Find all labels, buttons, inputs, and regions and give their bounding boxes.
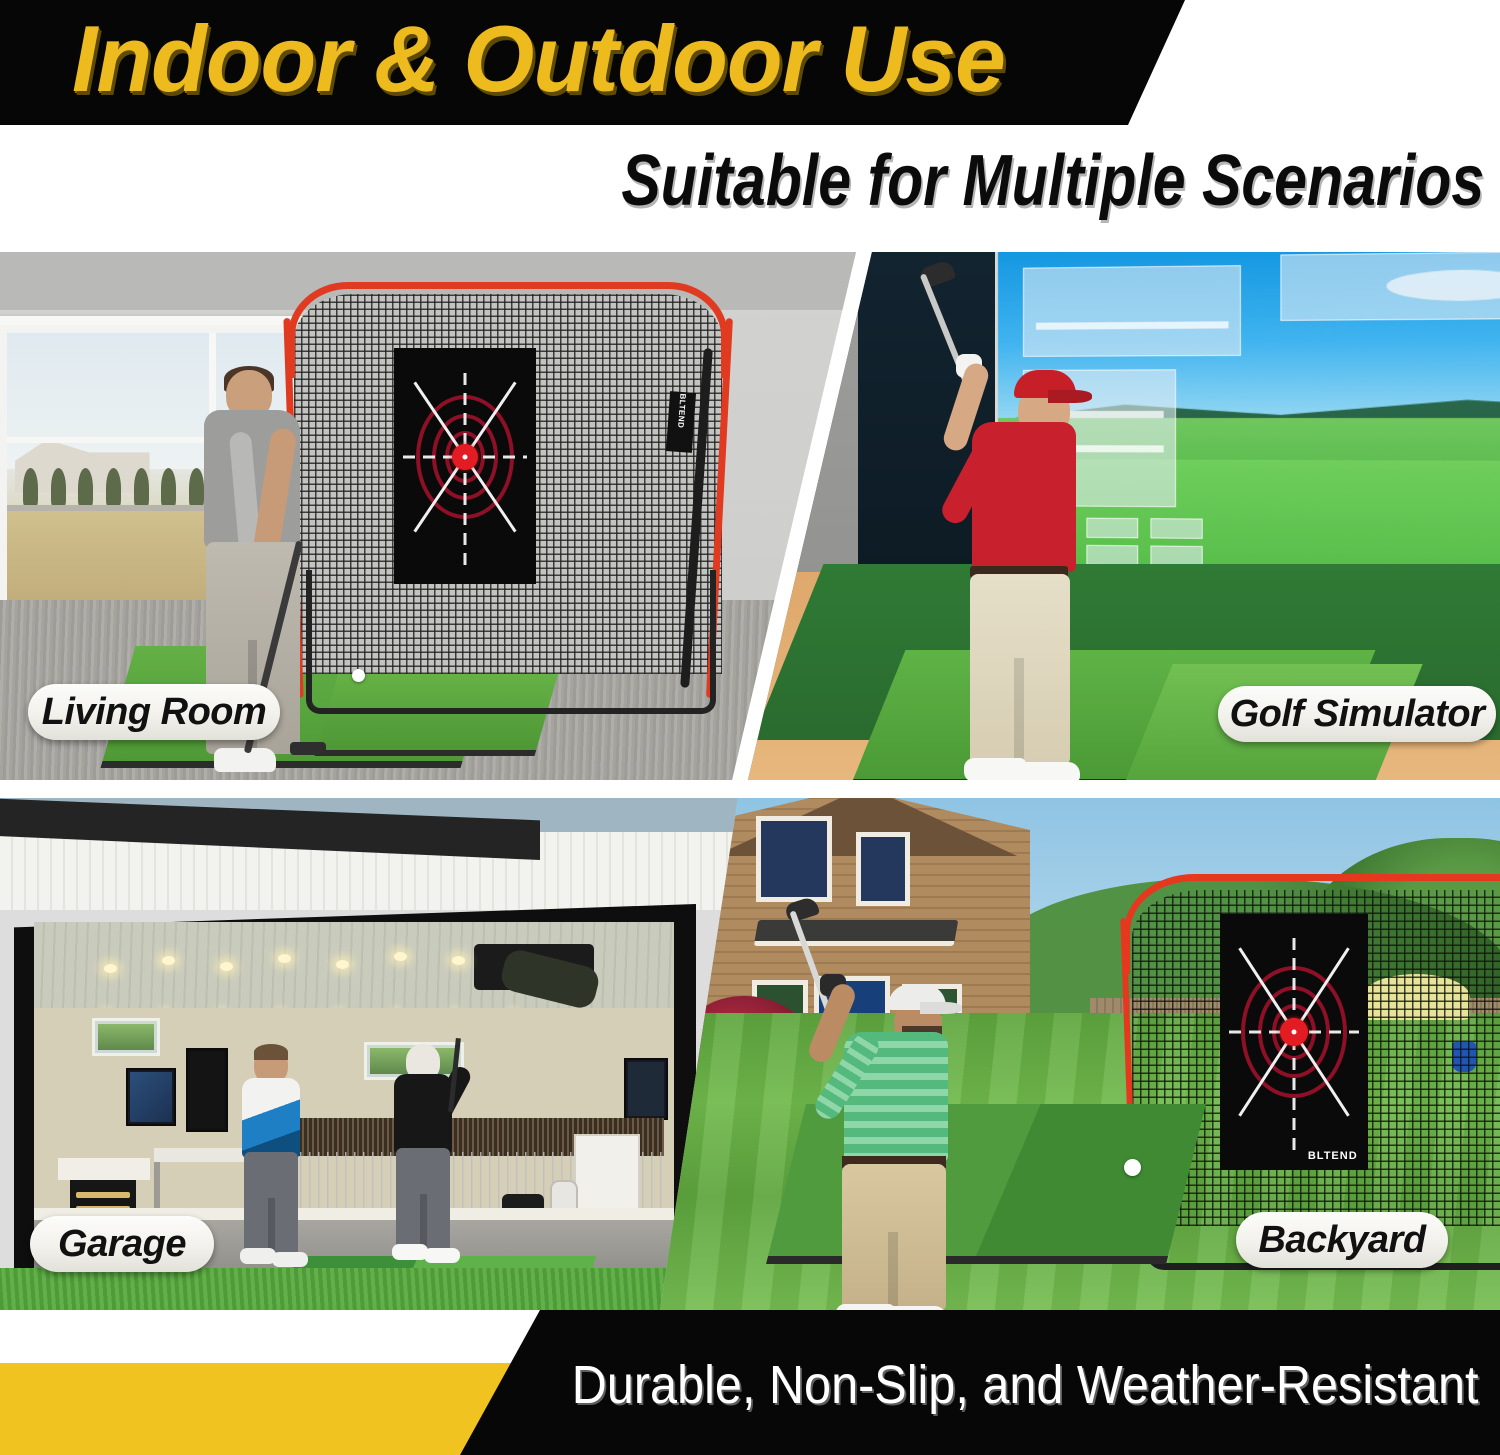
header-banner-area: Indoor & Outdoor Use Suitable for Multip… <box>0 0 1500 250</box>
golfer-figure <box>936 318 1116 780</box>
target-brand-label: BLTEND <box>1308 1150 1358 1162</box>
panel-golf-simulator[interactable]: JoyGo <box>748 252 1500 780</box>
label-text: Golf Simulator <box>1230 693 1485 736</box>
label-golf-simulator: Golf Simulator <box>1218 686 1496 742</box>
footer-accent-bar <box>0 1363 540 1455</box>
page-title: Indoor & Outdoor Use <box>72 6 1005 111</box>
golf-hitting-net: BLTEND <box>282 270 734 718</box>
net-brand-label: BLTEND <box>676 393 688 432</box>
label-text: Backyard <box>1258 1219 1425 1262</box>
label-text: Garage <box>58 1223 186 1266</box>
footer-tagline: Durable, Non-Slip, and Weather-Resistant <box>571 1354 1478 1416</box>
panel-garage[interactable]: Garage <box>0 798 740 1310</box>
golfer-figure <box>230 1048 316 1278</box>
panel-living-room[interactable]: BLTEND Living Room <box>0 252 856 780</box>
page-subtitle: Suitable for Multiple Scenarios <box>621 140 1484 223</box>
label-living-room: Living Room <box>28 684 280 740</box>
label-garage: Garage <box>30 1216 214 1272</box>
scenario-collage: BLTEND Living Room <box>0 252 1500 1310</box>
golfer-figure <box>382 1044 468 1274</box>
tv-screen <box>126 1068 176 1126</box>
golf-ball <box>352 669 365 682</box>
net-brand-tag: BLTEND <box>666 391 696 453</box>
label-backyard: Backyard <box>1236 1212 1448 1268</box>
tv-screen <box>624 1058 668 1120</box>
panel-backyard[interactable]: BLTEND BLTEND <box>660 798 1500 1310</box>
target-panel <box>394 348 536 584</box>
footer-banner-area: Durable, Non-Slip, and Weather-Resistant <box>0 1310 1500 1455</box>
target-panel: BLTEND <box>1220 914 1368 1170</box>
golf-ball <box>1124 1159 1141 1176</box>
golfer-figure <box>814 984 994 1310</box>
label-text: Living Room <box>42 691 267 734</box>
